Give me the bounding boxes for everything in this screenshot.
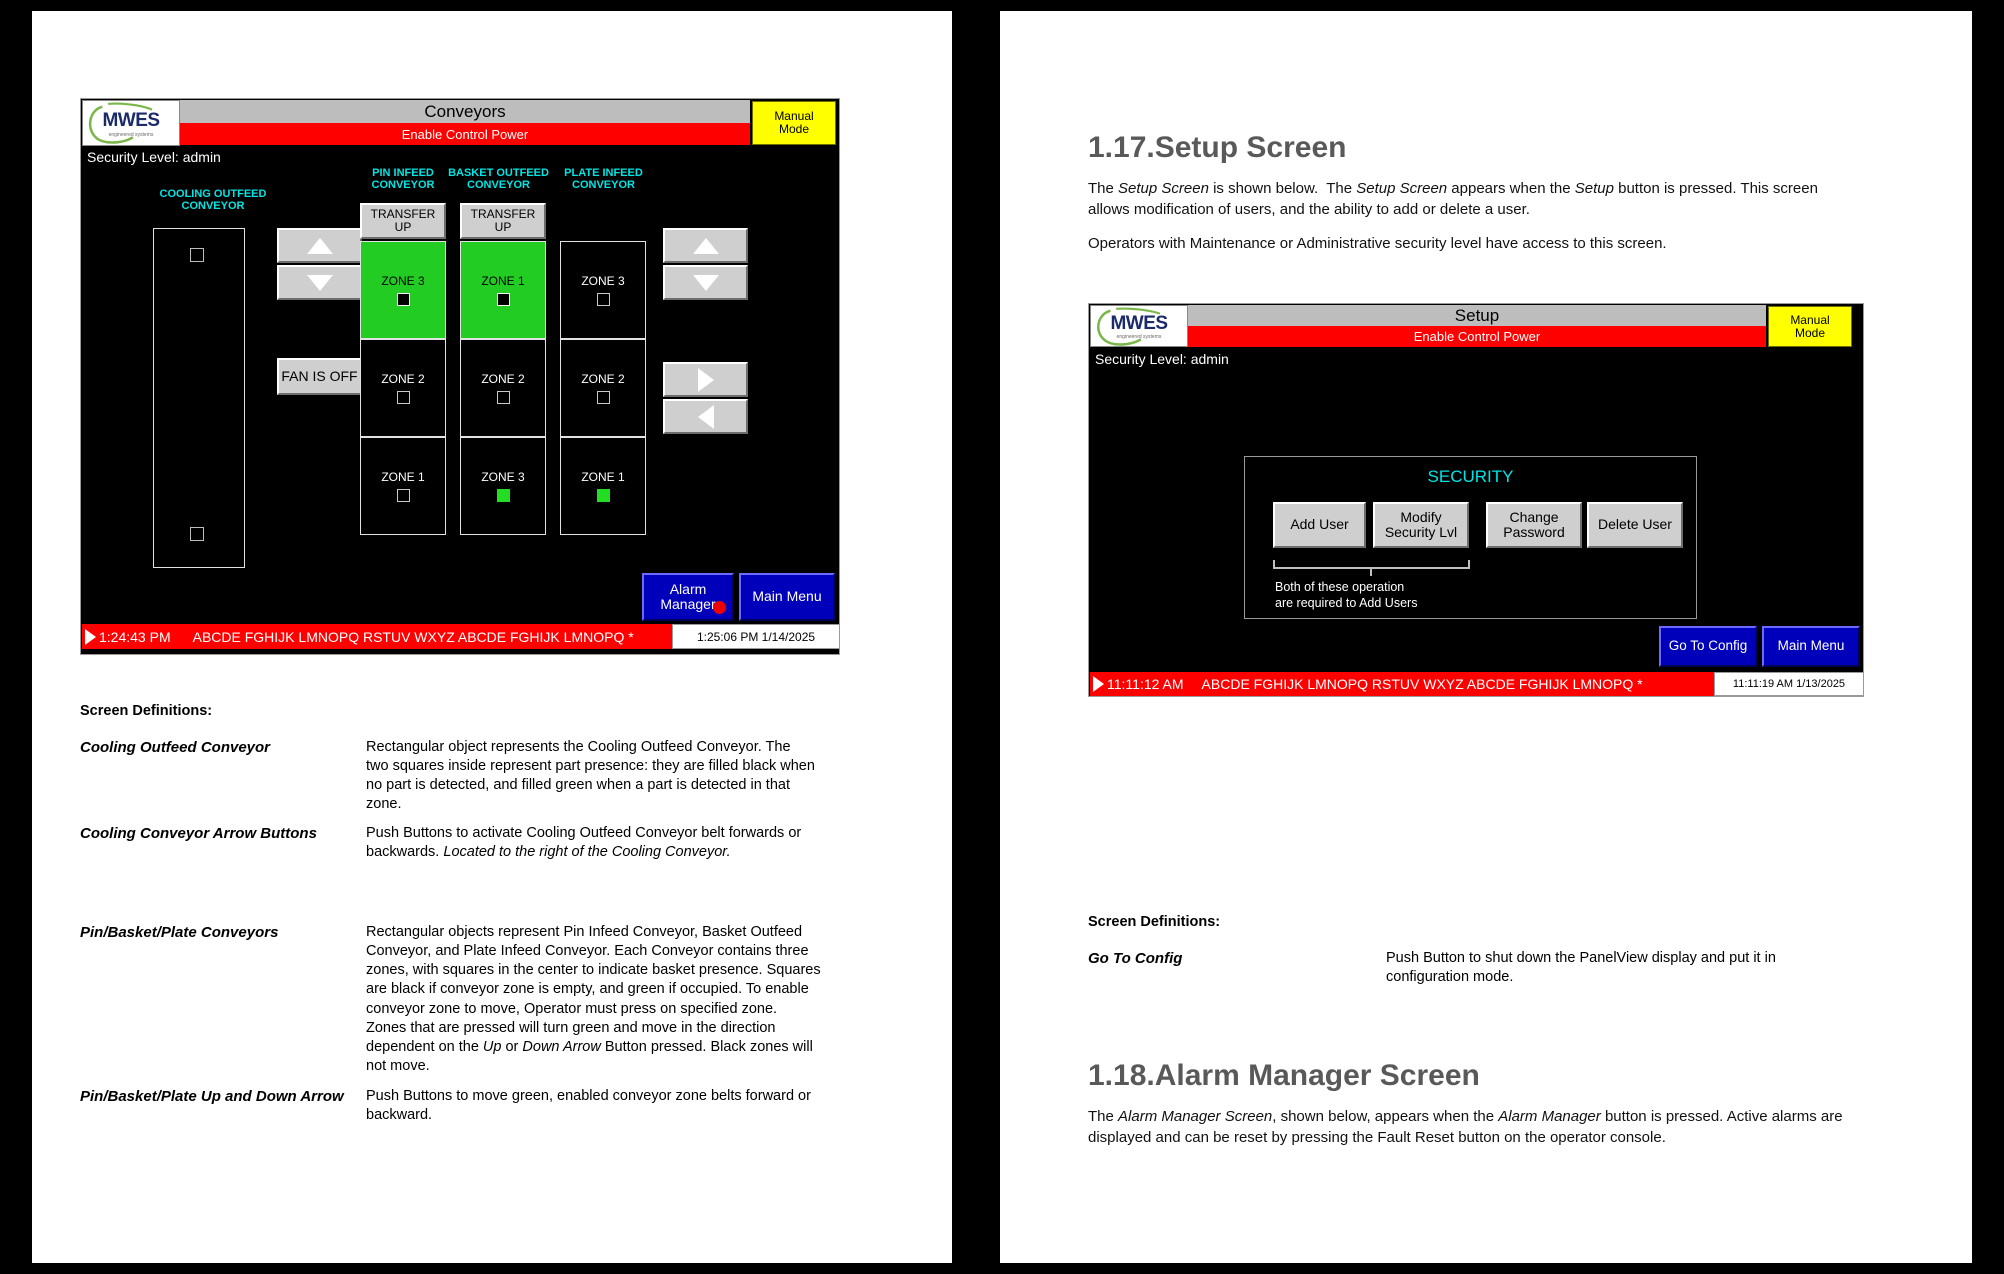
bracket-tick-right xyxy=(1468,560,1470,569)
bracket-stem xyxy=(1370,567,1372,576)
pin-infeed-zone-2[interactable]: ZONE 2 xyxy=(360,339,446,437)
cooling-part-square-top xyxy=(190,248,204,262)
change-password-button[interactable]: Change Password xyxy=(1486,502,1582,548)
plate-infeed-zone-3[interactable]: ZONE 3 xyxy=(560,241,646,339)
pin-zone2-indicator xyxy=(397,391,410,404)
modify-security-level-button[interactable]: Modify Security Lvl xyxy=(1373,502,1469,548)
section-1-18-heading: 1.18.Alarm Manager Screen xyxy=(1088,1059,1480,1093)
alarm-banner[interactable]: 1:24:43 PM ABCDE FGHIJK LMNOPQ RSTUV WXY… xyxy=(82,624,840,649)
arrow-right-icon xyxy=(696,367,716,393)
alarm-banner[interactable]: 11:11:12 AM ABCDE FGHIJK LMNOPQ RSTUV WX… xyxy=(1090,672,1864,696)
right-back-arrow-button[interactable] xyxy=(663,399,748,434)
cooling-up-arrow-button[interactable] xyxy=(277,228,362,263)
plate-zone3-indicator xyxy=(597,293,610,306)
manual-mode-button[interactable]: Manual Mode xyxy=(1768,306,1852,347)
def-term-pin-basket-plate-up-down-arrow: Pin/Basket/Plate Up and Down Arrow xyxy=(80,1087,380,1107)
section-1-17-paragraph-2: Operators with Maintenance or Administra… xyxy=(1088,233,1848,254)
right-down-arrow-button[interactable] xyxy=(663,265,748,300)
alarm-time: 11:11:12 AM xyxy=(1107,676,1184,692)
screen-title: Conveyors xyxy=(180,100,750,123)
add-user-button[interactable]: Add User xyxy=(1273,502,1366,548)
security-note: Both of these operation are required to … xyxy=(1275,579,1417,611)
basket-zone2-indicator xyxy=(497,391,510,404)
alarm-manager-line2: Manager xyxy=(660,596,715,612)
alarm-message: ABCDE FGHIJK LMNOPQ RSTUV WXYZ ABCDE FGH… xyxy=(1202,676,1643,692)
security-panel-title: SECURITY xyxy=(1245,467,1696,487)
logo-wordmark: MWES xyxy=(102,110,159,132)
alarm-clock: 11:11:19 AM 1/13/2025 xyxy=(1714,672,1864,696)
alarm-manager-line1: Alarm xyxy=(670,582,707,597)
section-1-17-heading: 1.17.Setup Screen xyxy=(1088,131,1346,165)
bracket-tick-left xyxy=(1273,560,1275,569)
security-level-text: Security Level: admin xyxy=(87,149,221,165)
security-note-line1: Both of these operation xyxy=(1275,579,1417,595)
fan-status-button[interactable]: FAN IS OFF xyxy=(277,358,362,395)
plate-zone1-indicator xyxy=(597,489,610,502)
plate-zone2-label: ZONE 2 xyxy=(581,372,624,386)
plate-zone2-indicator xyxy=(597,391,610,404)
basket-outfeed-label-line1: BASKET OUTFEED xyxy=(436,167,561,179)
cooling-label-line2: CONVEYOR xyxy=(133,200,293,212)
logo-tagline: engineered systems xyxy=(1117,334,1162,340)
def-term-pin-basket-plate-conveyors: Pin/Basket/Plate Conveyors xyxy=(80,923,370,943)
basket-zone3-label: ZONE 3 xyxy=(481,470,524,484)
pin-zone2-label: ZONE 2 xyxy=(381,372,424,386)
setup-hmi-screen: MWES engineered systems Setup Enable Con… xyxy=(1088,303,1864,697)
basket-outfeed-zone-3[interactable]: ZONE 3 xyxy=(460,437,546,535)
plate-infeed-zone-2[interactable]: ZONE 2 xyxy=(560,339,646,437)
basket-outfeed-transfer-up-button[interactable]: TRANSFER UP xyxy=(460,203,546,239)
pin-zone3-indicator xyxy=(397,293,410,306)
go-to-config-button[interactable]: Go To Config xyxy=(1659,626,1757,667)
plate-zone1-label: ZONE 1 xyxy=(581,470,624,484)
def-term-0-text: Cooling Outfeed Conveyor xyxy=(80,739,270,756)
arrow-down-icon xyxy=(691,273,721,293)
alarm-message: ABCDE FGHIJK LMNOPQ RSTUV WXYZ ABCDE FGH… xyxy=(193,629,634,645)
modify-security-line2: Security Lvl xyxy=(1385,525,1457,540)
enable-control-power-banner[interactable]: Enable Control Power xyxy=(180,123,750,145)
manual-mode-line2: Mode xyxy=(1795,327,1825,340)
delete-user-line1: Delete User xyxy=(1598,517,1672,532)
plate-infeed-label-line1: PLATE INFEED xyxy=(551,167,656,179)
basket-outfeed-zone-1[interactable]: ZONE 1 xyxy=(460,241,546,339)
alarm-arrow-icon xyxy=(85,629,96,645)
cooling-label-line1: COOLING OUTFEED xyxy=(133,188,293,200)
document-spread: MWES engineered systems Conveyors Enable… xyxy=(0,0,2004,1274)
security-note-line2: are required to Add Users xyxy=(1275,595,1417,611)
def-body-pin-basket-plate-conveyors: Rectangular objects represent Pin Infeed… xyxy=(366,923,821,1076)
main-menu-button[interactable]: Main Menu xyxy=(1762,626,1860,667)
change-password-line1: Change xyxy=(1509,510,1558,525)
plate-infeed-conveyor-label: PLATE INFEED CONVEYOR xyxy=(551,167,656,192)
def-body-go-to-config: Push Button to shut down the PanelView d… xyxy=(1386,949,1846,987)
pin-zone3-label: ZONE 3 xyxy=(381,274,424,288)
cooling-outfeed-conveyor-label: COOLING OUTFEED CONVEYOR xyxy=(133,188,293,213)
pin-zone1-label: ZONE 1 xyxy=(381,470,424,484)
logo-tagline: engineered systems xyxy=(109,132,154,138)
alarm-clock: 1:25:06 PM 1/14/2025 xyxy=(672,624,840,649)
plate-zone3-label: ZONE 3 xyxy=(581,274,624,288)
arrow-up-icon xyxy=(691,236,721,256)
basket-outfeed-conveyor-label: BASKET OUTFEED CONVEYOR xyxy=(436,167,561,192)
basket-outfeed-label-line2: CONVEYOR xyxy=(436,179,561,191)
alarm-arrow-icon xyxy=(1093,676,1104,692)
conveyors-hmi-screen: MWES engineered systems Conveyors Enable… xyxy=(80,98,840,655)
section-1-18-paragraph-1: The Alarm Manager Screen, shown below, a… xyxy=(1088,1106,1863,1149)
arrow-left-icon xyxy=(696,404,716,430)
def-body-pin-basket-plate-up-down-arrow: Push Buttons to move green, enabled conv… xyxy=(366,1087,816,1125)
basket-zone1-label: ZONE 1 xyxy=(481,274,524,288)
def-term-cooling-outfeed-conveyor: Cooling Outfeed Conveyor xyxy=(80,738,360,758)
alarm-time: 1:24:43 PM xyxy=(99,629,171,645)
plate-infeed-zone-1[interactable]: ZONE 1 xyxy=(560,437,646,535)
logo-wordmark: MWES xyxy=(1110,313,1167,335)
mwes-logo: MWES engineered systems xyxy=(1090,305,1188,347)
pin-infeed-zone-3[interactable]: ZONE 3 xyxy=(360,241,446,339)
right-definitions-title: Screen Definitions: xyxy=(1088,914,1220,930)
pin-infeed-transfer-up-button[interactable]: TRANSFER UP xyxy=(360,203,446,239)
cooling-part-square-bottom xyxy=(190,527,204,541)
plate-infeed-label-line2: CONVEYOR xyxy=(551,179,656,191)
cooling-outfeed-conveyor[interactable] xyxy=(153,228,245,568)
pin-zone1-indicator xyxy=(397,489,410,502)
right-forward-arrow-button[interactable] xyxy=(663,362,748,397)
left-definitions-title: Screen Definitions: xyxy=(80,703,212,719)
screen-title: Setup xyxy=(1188,305,1766,326)
pin-infeed-zone-1[interactable]: ZONE 1 xyxy=(360,437,446,535)
change-password-line2: Password xyxy=(1503,525,1564,540)
manual-mode-line2: Mode xyxy=(779,123,809,136)
section-1-17-paragraph-1: The Setup Screen is shown below. The Set… xyxy=(1088,178,1848,221)
def-term-go-to-config: Go To Config xyxy=(1088,949,1338,969)
manual-mode-button[interactable]: Manual Mode xyxy=(752,101,836,145)
mwes-logo: MWES engineered systems xyxy=(82,100,180,146)
alarm-indicator-dot xyxy=(713,601,726,614)
basket-outfeed-zone-2[interactable]: ZONE 2 xyxy=(460,339,546,437)
arrow-down-icon xyxy=(305,273,335,293)
basket-transfer-line2: UP xyxy=(495,221,512,234)
delete-user-button[interactable]: Delete User xyxy=(1587,502,1683,548)
arrow-up-icon xyxy=(305,236,335,256)
basket-zone2-label: ZONE 2 xyxy=(481,372,524,386)
def-body-cooling-conveyor-arrow-buttons: Push Buttons to activate Cooling Outfeed… xyxy=(366,824,816,862)
page-right: 1.17.Setup Screen The Setup Screen is sh… xyxy=(1000,11,1972,1263)
alarm-manager-button[interactable]: Alarm Manager xyxy=(642,573,734,621)
def-body-cooling-outfeed-conveyor: Rectangular object represents the Coolin… xyxy=(366,738,816,815)
enable-control-power-banner[interactable]: Enable Control Power xyxy=(1188,326,1766,347)
manual-mode-line1: Manual xyxy=(1790,314,1829,327)
page-left: MWES engineered systems Conveyors Enable… xyxy=(32,11,952,1263)
add-user-line1: Add User xyxy=(1290,517,1348,532)
main-menu-button[interactable]: Main Menu xyxy=(739,573,835,621)
security-level-text: Security Level: admin xyxy=(1095,351,1229,367)
pin-transfer-line2: UP xyxy=(395,221,412,234)
security-panel: SECURITY Add User Modify Security Lvl Ch… xyxy=(1244,456,1697,619)
right-up-arrow-button[interactable] xyxy=(663,228,748,263)
basket-zone3-indicator xyxy=(497,489,510,502)
basket-zone1-indicator xyxy=(497,293,510,306)
cooling-down-arrow-button[interactable] xyxy=(277,265,362,300)
def-term-cooling-conveyor-arrow-buttons: Cooling Conveyor Arrow Buttons xyxy=(80,824,370,844)
modify-security-line1: Modify xyxy=(1400,510,1441,525)
